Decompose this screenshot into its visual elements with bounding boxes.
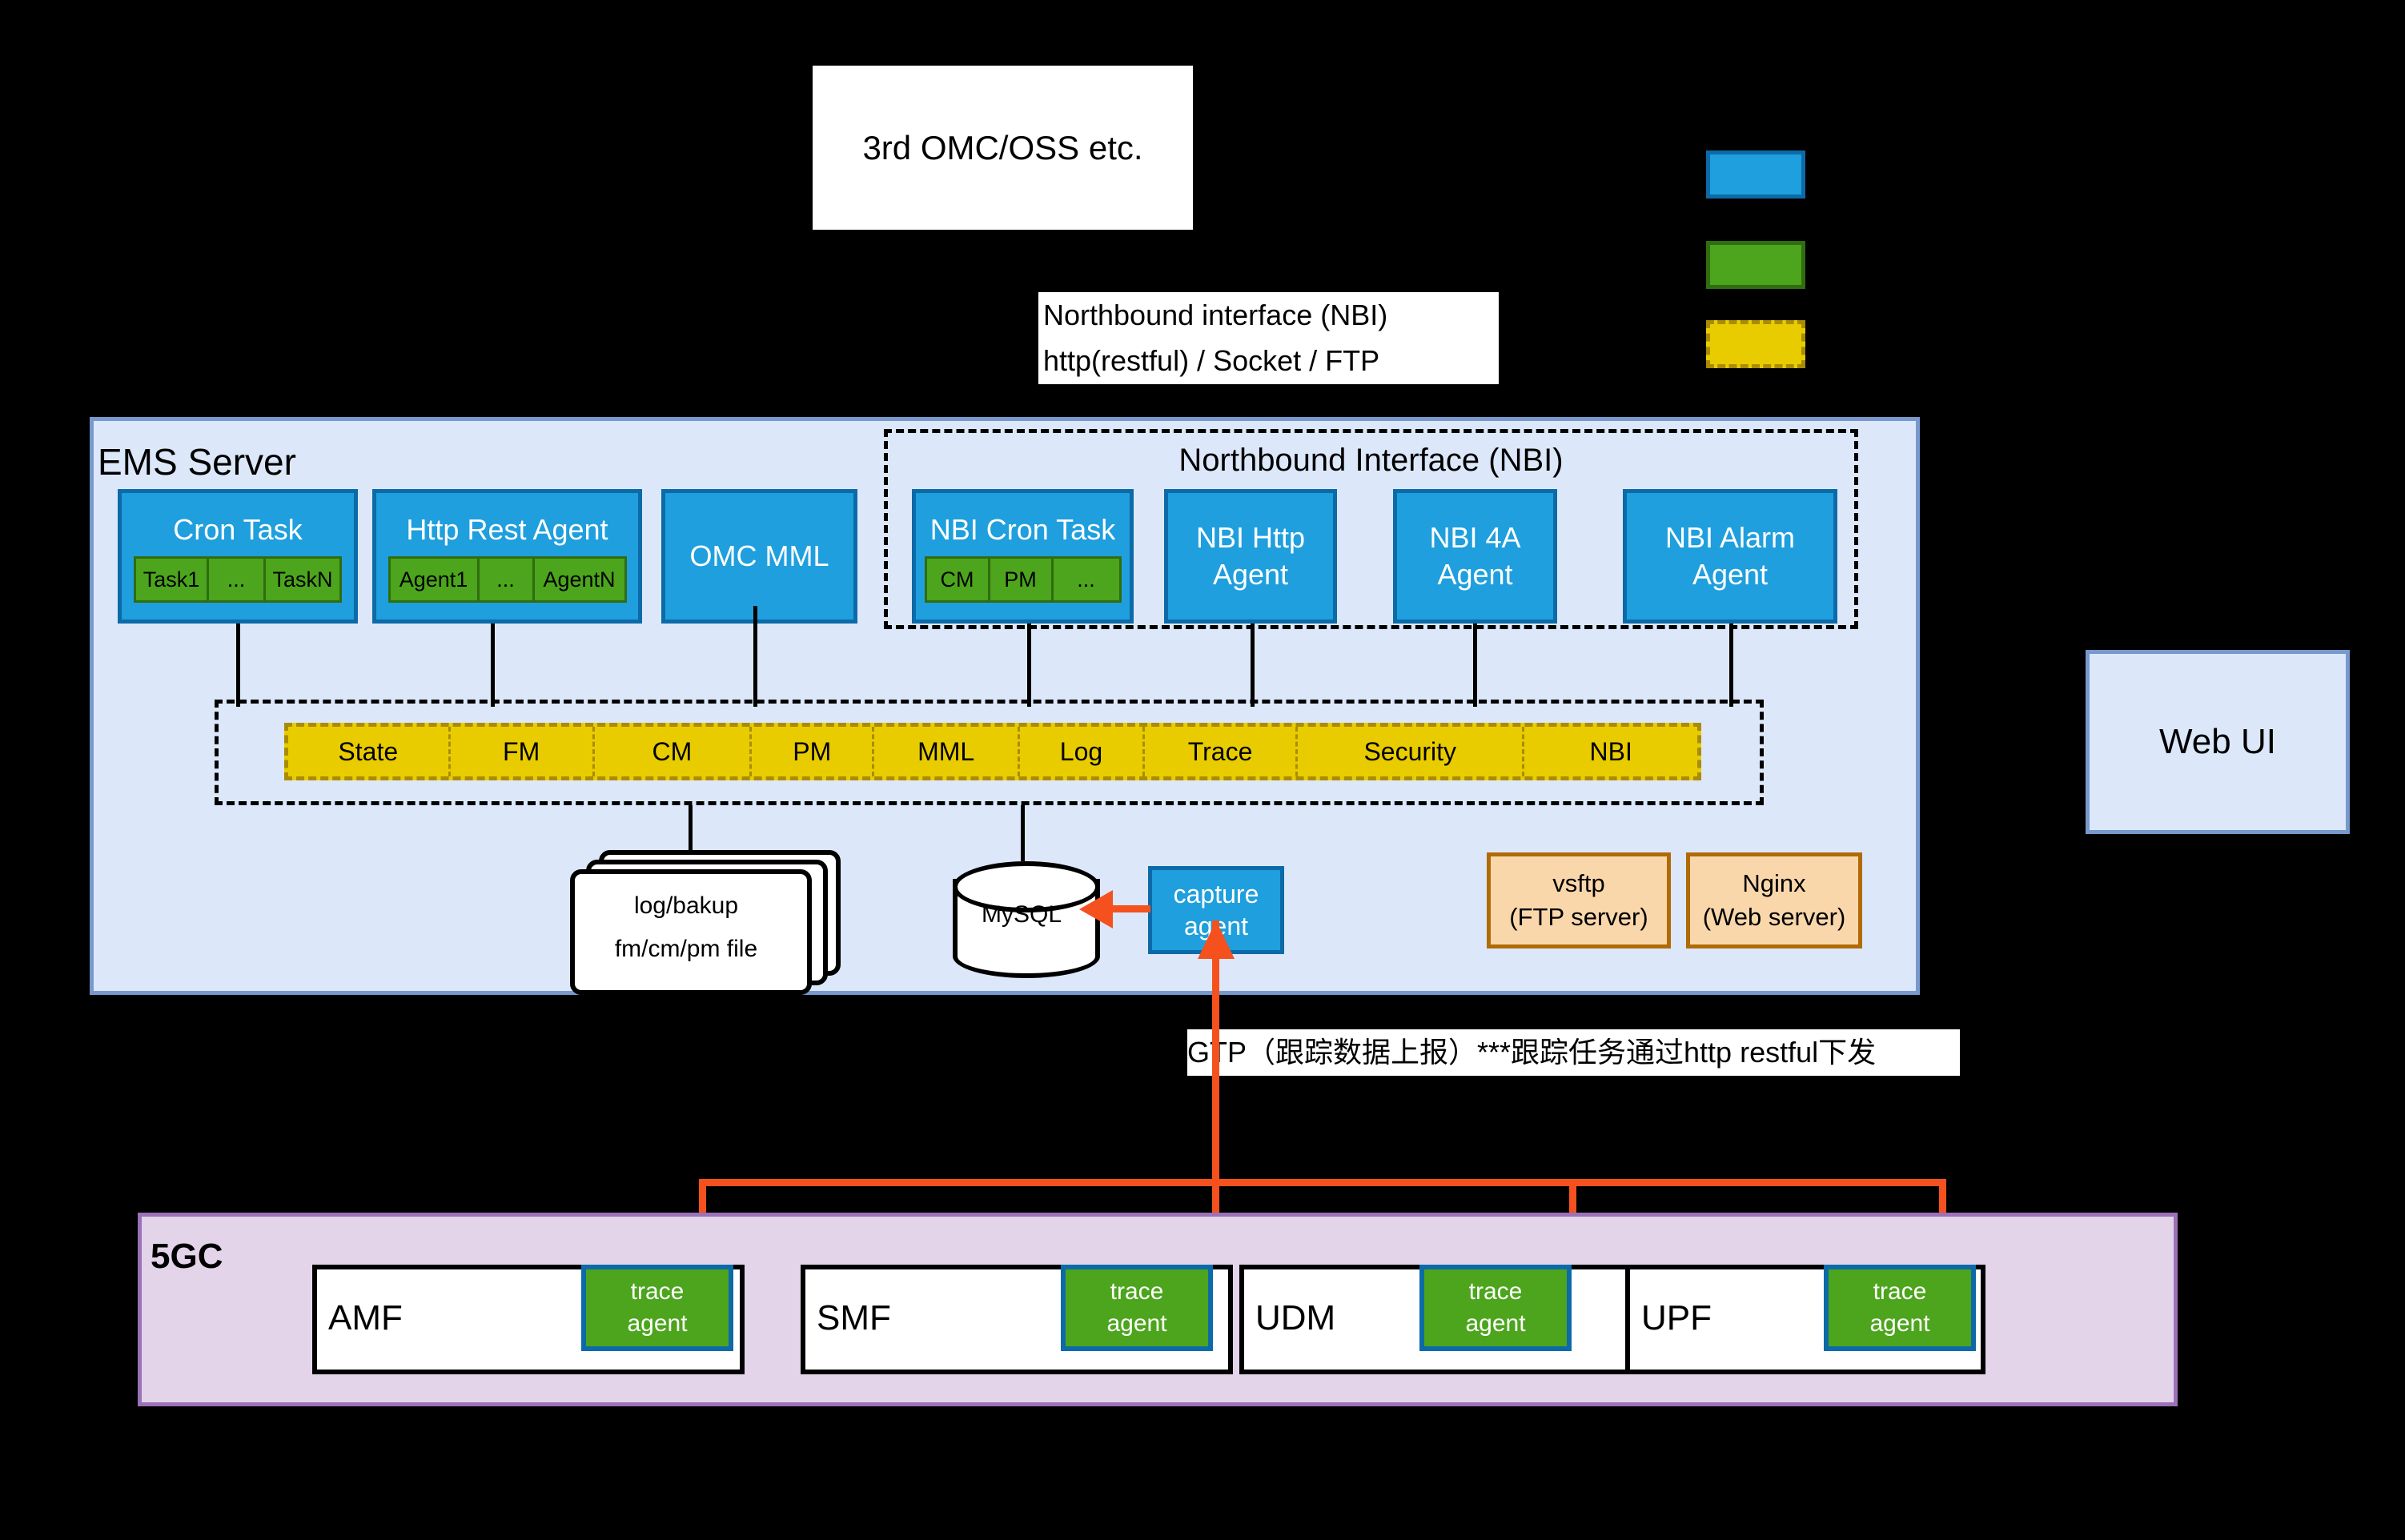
chip-agent1[interactable]: Agent1	[388, 556, 480, 603]
legend-swatch-blue	[1706, 150, 1805, 199]
bus-cell-mml[interactable]: MML	[874, 727, 1019, 776]
gc-function-amf-label: AMF	[328, 1298, 403, 1338]
nbi-protocol-note: Northbound interface (NBI) http(restful)…	[1038, 292, 1499, 384]
nbi-4a-agent-bus-connector	[1473, 624, 1477, 707]
bus-cell-security[interactable]: Security	[1298, 727, 1524, 776]
cron-task-bus-connector	[236, 624, 240, 707]
component-nbi-http-agent[interactable]: NBI Http Agent	[1164, 489, 1337, 624]
chip-pm[interactable]: PM	[990, 556, 1054, 603]
chip-task1[interactable]: Task1	[134, 556, 209, 603]
capture-to-mysql-line	[1106, 905, 1150, 912]
vsftp-line-2: (FTP server)	[1509, 900, 1648, 934]
nbi-alarm-agent-bus-connector	[1729, 624, 1733, 707]
component-http-rest-agent[interactable]: Http Rest Agent Agent1 ... AgentN	[372, 489, 642, 624]
component-nbi-cron-task-label: NBI Cron Task	[930, 513, 1115, 547]
trace-agent-smf[interactable]: trace agent	[1061, 1265, 1213, 1351]
trace-agent-udm[interactable]: trace agent	[1419, 1265, 1572, 1351]
chip-cm[interactable]: CM	[925, 556, 990, 603]
bus-cell-trace[interactable]: Trace	[1145, 727, 1298, 776]
component-nbi-4a-agent-label: NBI 4A Agent	[1429, 519, 1520, 593]
gtp-note: GTP（跟踪数据上报）***跟踪任务通过http restful下发	[1187, 1029, 1960, 1076]
trace-agent-udm-line-1: trace	[1469, 1276, 1523, 1308]
chip-agentn[interactable]: AgentN	[535, 556, 627, 603]
component-nbi-4a-agent[interactable]: NBI 4A Agent	[1393, 489, 1557, 624]
component-nbi-alarm-agent-label: NBI Alarm Agent	[1665, 519, 1795, 593]
chip-taskn[interactable]: TaskN	[266, 556, 342, 603]
gc-function-smf-label: SMF	[817, 1298, 891, 1338]
gc-title: 5GC	[151, 1237, 223, 1277]
component-omc-mml-label: OMC MML	[690, 539, 829, 573]
component-http-rest-agent-label: Http Rest Agent	[406, 513, 608, 547]
component-nbi-cron-task[interactable]: NBI Cron Task CM PM ...	[912, 489, 1134, 624]
trace-agent-smf-line-2: agent	[1106, 1308, 1166, 1340]
trace-agent-amf-line-1: trace	[631, 1276, 685, 1308]
gc-function-upf-label: UPF	[1641, 1298, 1712, 1338]
file-stack-line-2: fm/cm/pm file	[615, 928, 757, 971]
trace-agent-smf-line-1: trace	[1110, 1276, 1164, 1308]
nginx-server-box[interactable]: Nginx (Web server)	[1686, 852, 1862, 948]
third-party-omc-oss-box: 3rd OMC/OSS etc.	[813, 66, 1193, 230]
http-rest-agent-bus-connector	[491, 624, 495, 707]
mysql-label: MySQL	[953, 895, 1090, 935]
web-ui-panel[interactable]: Web UI	[2086, 650, 2350, 834]
capture-agent-line-1: capture	[1174, 878, 1259, 910]
bus-cell-fm[interactable]: FM	[451, 727, 595, 776]
trace-bus-riser-arrowhead	[1196, 920, 1236, 959]
trace-agent-upf-line-1: trace	[1873, 1276, 1927, 1308]
trace-bus-riser	[1212, 920, 1219, 1185]
bus-to-file-stack-connector	[689, 805, 693, 853]
gc-function-udm-label: UDM	[1255, 1298, 1335, 1338]
chip-agent-ellipsis: ...	[480, 556, 535, 603]
nginx-line-2: (Web server)	[1703, 900, 1846, 934]
nbi-group-title: Northbound Interface (NBI)	[884, 436, 1858, 484]
vsftp-server-box[interactable]: vsftp (FTP server)	[1487, 852, 1671, 948]
bus-to-mysql-connector	[1021, 805, 1025, 861]
component-cron-task-label: Cron Task	[173, 513, 302, 547]
gtp-note-text: GTP（跟踪数据上报）***跟踪任务通过http restful下发	[1187, 1036, 1876, 1069]
bus-cell-cm[interactable]: CM	[595, 727, 752, 776]
omc-mml-bus-connector	[753, 606, 757, 707]
ems-server-title: EMS Server	[98, 440, 296, 483]
chip-task-ellipsis: ...	[209, 556, 266, 603]
trace-agent-udm-line-2: agent	[1465, 1308, 1525, 1340]
vsftp-line-1: vsftp	[1552, 867, 1604, 900]
capture-to-mysql-arrowhead	[1079, 888, 1113, 930]
third-party-omc-oss-label: 3rd OMC/OSS etc.	[862, 129, 1142, 167]
service-bus: State FM CM PM MML Log Trace Security NB…	[284, 723, 1701, 780]
trace-agent-amf[interactable]: trace agent	[581, 1265, 733, 1351]
bus-cell-state[interactable]: State	[288, 727, 451, 776]
component-omc-mml[interactable]: OMC MML	[661, 489, 857, 624]
trace-bus-horizontal	[699, 1179, 1946, 1186]
component-nbi-http-agent-label: NBI Http Agent	[1196, 519, 1305, 593]
nbi-cron-task-bus-connector	[1027, 624, 1031, 707]
chip-nbi-ellipsis: ...	[1054, 556, 1122, 603]
bus-cell-nbi[interactable]: NBI	[1524, 727, 1697, 776]
bus-cell-log[interactable]: Log	[1020, 727, 1145, 776]
trace-agent-upf-line-2: agent	[1869, 1308, 1929, 1340]
nbi-http-agent-bus-connector	[1251, 624, 1255, 707]
nbi-note-line-2: http(restful) / Socket / FTP	[1043, 338, 1499, 383]
oss-to-ems-connector	[1002, 230, 1006, 419]
file-stack-label: log/bakup fm/cm/pm file	[570, 869, 802, 985]
legend-swatch-gold	[1706, 320, 1805, 368]
component-cron-task[interactable]: Cron Task Task1 ... TaskN	[118, 489, 358, 624]
trace-agent-upf[interactable]: trace agent	[1824, 1265, 1976, 1351]
bus-cell-pm[interactable]: PM	[752, 727, 874, 776]
legend-swatch-green	[1706, 241, 1805, 289]
file-stack-line-1: log/bakup	[634, 884, 738, 928]
nginx-line-1: Nginx	[1742, 867, 1805, 900]
component-nbi-alarm-agent[interactable]: NBI Alarm Agent	[1623, 489, 1837, 624]
nbi-note-line-1: Northbound interface (NBI)	[1043, 292, 1499, 338]
trace-agent-amf-line-2: agent	[627, 1308, 687, 1340]
web-ui-label: Web UI	[2159, 722, 2276, 762]
